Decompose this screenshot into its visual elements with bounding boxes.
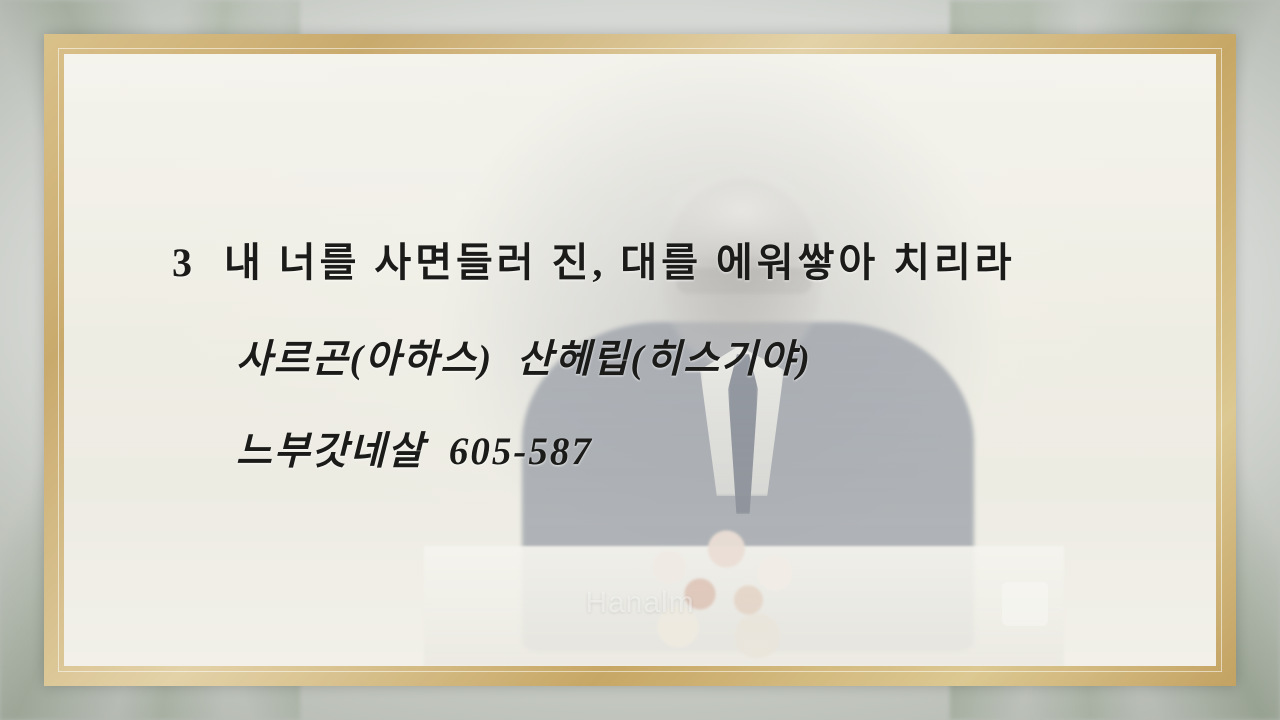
slide-screen: 3 내 너를 사면들러 진, 대를 에워쌓아 치리라 사르곤(아하스) 산헤립(…: [0, 0, 1280, 720]
slide-content-area: 3 내 너를 사면들러 진, 대를 에워쌓아 치리라 사르곤(아하스) 산헤립(…: [64, 54, 1216, 666]
lyric-line-2: 사르곤(아하스) 산헤립(히스기야): [64, 328, 1216, 384]
channel-watermark: Hanalm: [585, 586, 694, 620]
lyric-line-3: 느부갓네살 605-587: [64, 420, 1216, 476]
lyric-line-1: 3 내 너를 사면들러 진, 대를 에워쌓아 치리라: [64, 230, 1216, 288]
watermark-badge-icon: [1002, 582, 1048, 626]
lyrics-block: 3 내 너를 사면들러 진, 대를 에워쌓아 치리라 사르곤(아하스) 산헤립(…: [64, 230, 1216, 476]
